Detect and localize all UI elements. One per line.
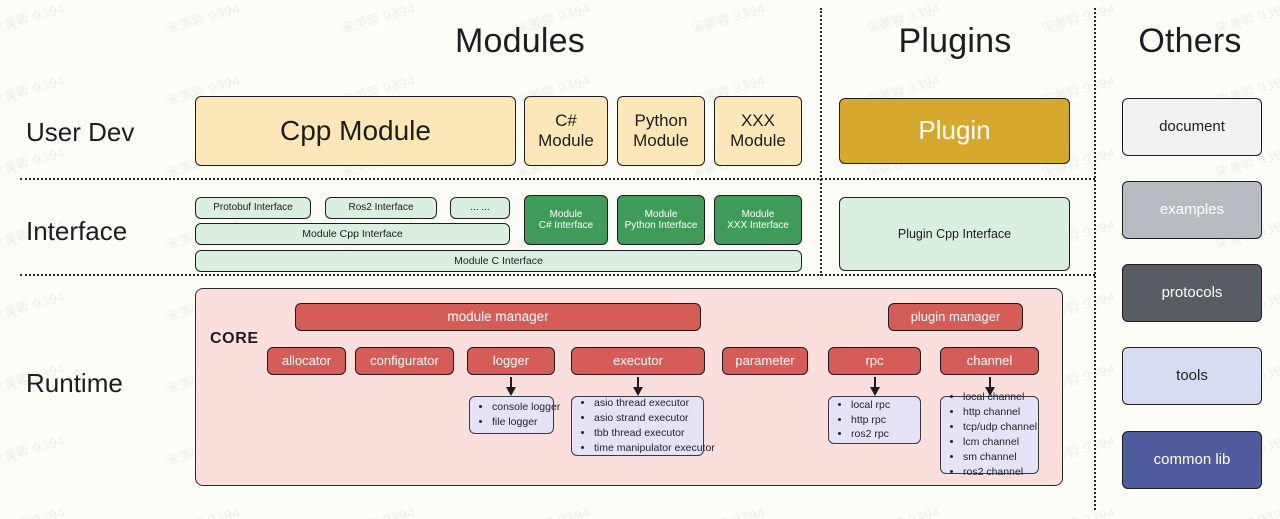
node-others-document[interactable]: document bbox=[1122, 98, 1262, 156]
row-title-user-dev: User Dev bbox=[26, 117, 134, 148]
separator-interface-runtime bbox=[20, 274, 1095, 276]
row-title-runtime: Runtime bbox=[26, 368, 123, 399]
list-item: asio thread executor bbox=[594, 396, 695, 411]
list-item: tbb thread executor bbox=[594, 426, 695, 441]
node-module-csharp-interface[interactable]: Module C# Interface bbox=[524, 195, 608, 245]
watermark-text: 宋美蓉 9394 bbox=[0, 430, 67, 469]
separator-plugins-others bbox=[1094, 8, 1096, 510]
node-others-common-lib[interactable]: common lib bbox=[1122, 431, 1262, 489]
list-logger-children: console loggerfile logger bbox=[469, 396, 554, 434]
node-cpp-module[interactable]: Cpp Module bbox=[195, 96, 516, 166]
watermark-text: 宋美蓉 9394 bbox=[164, 502, 243, 519]
watermark-text: 宋美蓉 9394 bbox=[689, 502, 768, 519]
watermark-text: 宋美蓉 9394 bbox=[514, 502, 593, 519]
node-others-protocols[interactable]: protocols bbox=[1122, 264, 1262, 322]
list-channel-children: local channelhttp channeltcp/udp channel… bbox=[940, 396, 1039, 474]
list-item: tcp/udp channel bbox=[963, 420, 1030, 435]
node-ros2-interface[interactable]: Ros2 Interface bbox=[325, 197, 437, 219]
architecture-diagram: 宋美蓉 9394宋美蓉 9394宋美蓉 9394宋美蓉 9394宋美蓉 9394… bbox=[0, 0, 1280, 519]
watermark-text: 宋美蓉 9394 bbox=[0, 0, 67, 37]
arrow-logger-down bbox=[500, 376, 522, 398]
node-logger[interactable]: logger bbox=[467, 347, 555, 375]
node-csharp-module[interactable]: C# Module bbox=[524, 96, 608, 166]
node-protobuf-interface[interactable]: Protobuf Interface bbox=[195, 197, 311, 219]
node-rpc[interactable]: rpc bbox=[828, 347, 921, 375]
node-plugin-cpp-interface[interactable]: Plugin Cpp Interface bbox=[839, 197, 1070, 271]
arrow-rpc-down bbox=[864, 376, 886, 398]
node-others-tools[interactable]: tools bbox=[1122, 347, 1262, 405]
list-item: lcm channel bbox=[963, 435, 1030, 450]
logger-children-list: console loggerfile logger bbox=[478, 400, 545, 430]
separator-user-dev-interface bbox=[20, 178, 1095, 180]
node-python-module[interactable]: Python Module bbox=[617, 96, 705, 166]
node-others-examples[interactable]: examples bbox=[1122, 181, 1262, 239]
list-item: console logger bbox=[492, 400, 545, 415]
list-rpc-children: local rpchttp rpcros2 rpc bbox=[828, 396, 921, 444]
row-title-interface: Interface bbox=[26, 216, 127, 247]
watermark-text: 宋美蓉 9394 bbox=[864, 502, 943, 519]
node-allocator[interactable]: allocator bbox=[267, 347, 346, 375]
rpc-children-list: local rpchttp rpcros2 rpc bbox=[837, 398, 912, 443]
watermark-text: 宋美蓉 9394 bbox=[164, 0, 243, 37]
list-item: ros2 rpc bbox=[851, 427, 912, 442]
node-xxx-module[interactable]: XXX Module bbox=[714, 96, 802, 166]
column-title-modules: Modules bbox=[330, 22, 710, 61]
list-item: http channel bbox=[963, 405, 1030, 420]
node-parameter[interactable]: parameter bbox=[722, 347, 808, 375]
list-item: local rpc bbox=[851, 398, 912, 413]
watermark-text: 宋美蓉 9394 bbox=[339, 502, 418, 519]
list-item: local channel bbox=[963, 390, 1030, 405]
node-module-cpp-interface[interactable]: Module Cpp Interface bbox=[195, 223, 510, 245]
list-item: sm channel bbox=[963, 450, 1030, 465]
list-executor-children: asio thread executorasio strand executor… bbox=[571, 396, 704, 456]
channel-children-list: local channelhttp channeltcp/udp channel… bbox=[949, 390, 1030, 479]
watermark-text: 宋美蓉 9394 bbox=[1039, 502, 1118, 519]
watermark-text: 宋美蓉 9394 bbox=[0, 70, 67, 109]
node-module-manager[interactable]: module manager bbox=[295, 303, 701, 331]
watermark-text: 宋美蓉 9394 bbox=[0, 286, 67, 325]
watermark-text: 宋美蓉 9394 bbox=[1214, 502, 1280, 519]
node-module-python-interface[interactable]: Module Python Interface bbox=[617, 195, 705, 245]
node-plugin-manager[interactable]: plugin manager bbox=[888, 303, 1023, 331]
node-module-xxx-interface[interactable]: Module XXX Interface bbox=[714, 195, 802, 245]
list-item: asio strand executor bbox=[594, 411, 695, 426]
list-item: file logger bbox=[492, 415, 545, 430]
node-plugin[interactable]: Plugin bbox=[839, 98, 1070, 164]
column-title-plugins: Plugins bbox=[830, 22, 1080, 61]
node-module-c-interface[interactable]: Module C Interface bbox=[195, 250, 802, 272]
column-title-others: Others bbox=[1100, 22, 1280, 61]
node-more-interface[interactable]: ... ... bbox=[450, 197, 510, 219]
arrow-executor-down bbox=[627, 376, 649, 398]
separator-modules-plugins bbox=[820, 8, 822, 276]
node-configurator[interactable]: configurator bbox=[355, 347, 454, 375]
watermark-text: 宋美蓉 9394 bbox=[0, 502, 67, 519]
node-executor[interactable]: executor bbox=[571, 347, 705, 375]
list-item: time manipulator executor bbox=[594, 441, 695, 456]
core-label: CORE bbox=[210, 330, 259, 348]
executor-children-list: asio thread executorasio strand executor… bbox=[580, 396, 695, 456]
list-item: ros2 channel bbox=[963, 465, 1030, 480]
node-channel[interactable]: channel bbox=[940, 347, 1039, 375]
list-item: http rpc bbox=[851, 413, 912, 428]
